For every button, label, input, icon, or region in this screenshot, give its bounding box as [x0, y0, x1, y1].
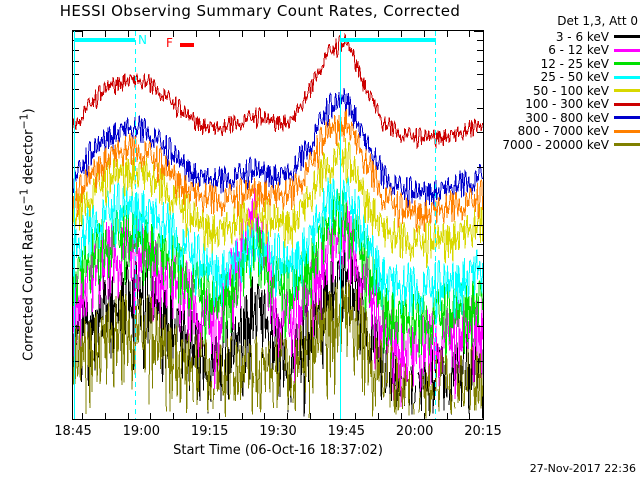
legend-item: 300 - 800 keV [498, 111, 640, 125]
x-tick-label: 20:00 [396, 424, 433, 439]
chart-page: HESSI Observing Summary Count Rates, Cor… [0, 0, 640, 480]
legend-color-swatch [614, 62, 640, 65]
axis-tick [477, 74, 483, 75]
legend-color-swatch [614, 35, 640, 38]
night-end-line-right [435, 31, 436, 419]
x-tick-label: 20:15 [464, 424, 501, 439]
axis-tick [477, 167, 483, 168]
axis-tick [219, 31, 220, 37]
axis-tick [219, 413, 220, 419]
legend-item-label: 6 - 12 keV [548, 43, 609, 57]
axis-tick [477, 40, 483, 41]
night-marker-label: N [138, 33, 147, 47]
render-timestamp: 27-Nov-2017 22:36 [530, 462, 636, 475]
axis-tick [310, 31, 311, 37]
legend-item-label: 100 - 300 keV [525, 97, 609, 111]
axis-tick [333, 413, 334, 419]
axis-tick [474, 31, 483, 32]
axis-tick [287, 413, 288, 419]
legend-color-swatch [614, 76, 640, 79]
axis-tick [477, 255, 483, 256]
axis-tick [82, 31, 83, 37]
legend-color-swatch [614, 89, 640, 92]
legend-item-label: 7000 - 20000 keV [502, 138, 609, 152]
night-end-line-left [135, 31, 136, 419]
legend-header: Det 1,3, Att 0 [498, 14, 640, 28]
page-title: HESSI Observing Summary Count Rates, Cor… [0, 2, 520, 20]
axis-tick [477, 234, 483, 235]
legend-color-swatch [614, 116, 640, 119]
legend-color-swatch [614, 103, 640, 106]
x-tick-label: 18:45 [54, 424, 91, 439]
legend-item: 50 - 100 keV [498, 84, 640, 98]
legend-item-label: 25 - 50 keV [541, 70, 609, 84]
axis-tick [173, 413, 174, 419]
legend-rows: 3 - 6 keV6 - 12 keV12 - 25 keV25 - 50 ke… [498, 30, 640, 152]
axis-tick [333, 31, 334, 37]
axis-tick [128, 413, 129, 419]
legend-item: 100 - 300 keV [498, 98, 640, 112]
legend: Det 1,3, Att 0 3 - 6 keV6 - 12 keV12 - 2… [498, 14, 640, 152]
night-bar-left [74, 38, 135, 42]
legend-color-swatch [614, 130, 640, 133]
axis-tick [82, 413, 83, 419]
axis-tick [477, 268, 483, 269]
y-axis-title: Corrected Count Rate (s−1 detector−1) [17, 40, 36, 430]
axis-tick [401, 31, 402, 37]
axis-tick [477, 244, 483, 245]
x-tick-label: 19:15 [191, 424, 228, 439]
legend-item: 6 - 12 keV [498, 44, 640, 58]
legend-color-swatch [614, 49, 640, 52]
axis-tick [287, 31, 288, 37]
axis-tick [105, 413, 106, 419]
axis-tick [150, 31, 151, 37]
axis-tick [424, 31, 425, 37]
x-tick-label: 19:45 [328, 424, 365, 439]
legend-item-label: 800 - 7000 keV [518, 124, 609, 138]
axis-tick [474, 225, 483, 226]
axis-tick [378, 31, 379, 37]
axis-tick [424, 413, 425, 419]
axis-tick [474, 419, 483, 420]
legend-item-label: 300 - 800 keV [525, 111, 609, 125]
axis-tick [477, 108, 483, 109]
flare-marker-bar [180, 43, 194, 47]
axis-tick [173, 31, 174, 37]
legend-color-swatch [614, 143, 640, 146]
axis-tick [310, 413, 311, 419]
night-start-line-left [74, 31, 75, 419]
night-start-line-right [340, 31, 341, 419]
axis-tick [196, 31, 197, 37]
axis-tick [150, 413, 151, 419]
axis-tick [477, 361, 483, 362]
legend-item: 12 - 25 keV [498, 57, 640, 71]
axis-tick [378, 413, 379, 419]
legend-item: 800 - 7000 keV [498, 125, 640, 139]
axis-tick [477, 50, 483, 51]
axis-tick [447, 413, 448, 419]
plot-frame: NF [72, 30, 484, 420]
flare-marker-label: F [166, 36, 173, 50]
axis-tick [264, 31, 265, 37]
legend-item-label: 3 - 6 keV [556, 30, 609, 44]
x-axis-title: Start Time (06-Oct-16 18:37:02) [72, 443, 484, 458]
axis-tick [469, 413, 470, 419]
axis-tick [128, 31, 129, 37]
legend-item-label: 12 - 25 keV [541, 57, 609, 71]
x-tick-label: 19:00 [123, 424, 160, 439]
legend-item-label: 50 - 100 keV [533, 84, 609, 98]
legend-item: 25 - 50 keV [498, 71, 640, 85]
axis-tick [477, 61, 483, 62]
axis-tick [355, 413, 356, 419]
x-tick-label: 19:30 [259, 424, 296, 439]
axis-tick [242, 31, 243, 37]
axis-tick [469, 31, 470, 37]
axis-tick [477, 326, 483, 327]
axis-tick [105, 31, 106, 37]
legend-item: 7000 - 20000 keV [498, 138, 640, 152]
axis-tick [401, 413, 402, 419]
axis-tick [477, 302, 483, 303]
axis-tick [447, 31, 448, 37]
night-bar-right [340, 38, 436, 42]
legend-item: 3 - 6 keV [498, 30, 640, 44]
axis-tick [477, 283, 483, 284]
axis-tick [264, 413, 265, 419]
axis-tick [355, 31, 356, 37]
axis-tick [196, 413, 197, 419]
axis-tick [242, 413, 243, 419]
axis-tick [73, 419, 82, 420]
axis-tick [477, 132, 483, 133]
axis-tick [477, 89, 483, 90]
